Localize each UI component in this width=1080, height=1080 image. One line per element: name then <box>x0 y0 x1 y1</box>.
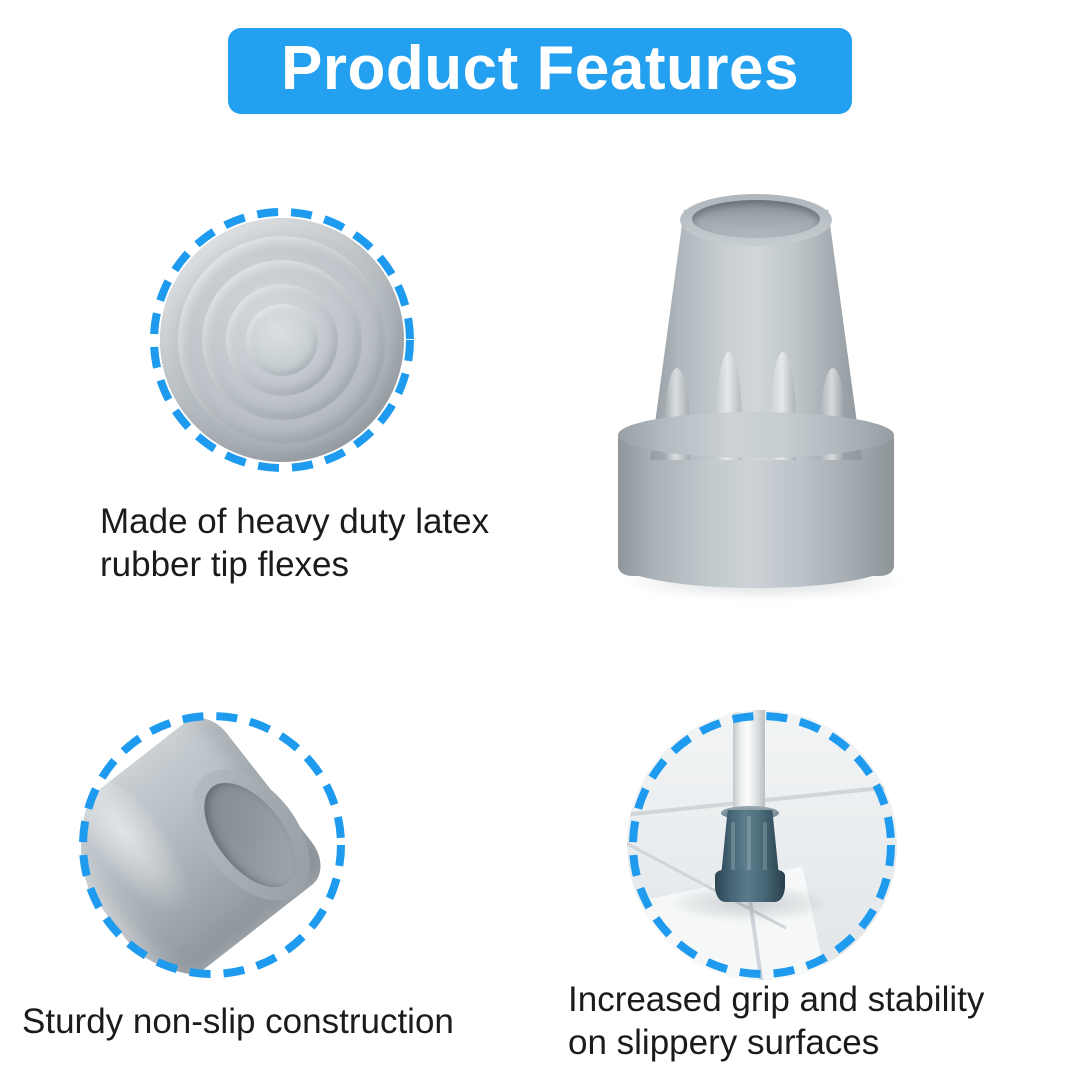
cane-tip-on-tile-floor-photo <box>627 710 897 980</box>
tip-base-top-ellipse <box>618 412 894 458</box>
tip-base-bottom-ellipse <box>618 534 894 588</box>
tilted-rubber-tip-photo <box>81 714 343 976</box>
feature-2-image-circle <box>77 710 347 980</box>
tip-bottom-disc <box>160 218 404 462</box>
title-banner: Product Features <box>228 28 852 114</box>
feature-1-caption: Made of heavy duty latex rubber tip flex… <box>100 500 570 587</box>
cane-tip-rib <box>747 816 751 874</box>
cane-tip-rib <box>731 822 735 874</box>
page-title: Product Features <box>281 38 799 100</box>
tip-opening-hole <box>692 200 820 238</box>
cane-tip-base-collar <box>715 870 785 902</box>
tile-floor-background <box>627 710 897 980</box>
tilted-tip-group <box>81 726 343 976</box>
groove-ring-center <box>246 304 318 376</box>
feature-3-caption: Increased grip and stability on slippery… <box>568 978 1068 1065</box>
cane-shaft <box>733 710 765 820</box>
feature-2-caption: Sturdy non-slip construction <box>22 1000 542 1043</box>
product-features-infographic: Product Features Made of heavy duty late… <box>0 0 1080 1080</box>
cane-tip-rib <box>763 822 767 874</box>
gray-cane-tip-product-photo <box>596 186 936 616</box>
feature-3-image-circle <box>627 710 897 980</box>
feature-1-image-circle <box>148 206 416 474</box>
rubber-tip-bottom-rings-photo <box>154 212 410 468</box>
